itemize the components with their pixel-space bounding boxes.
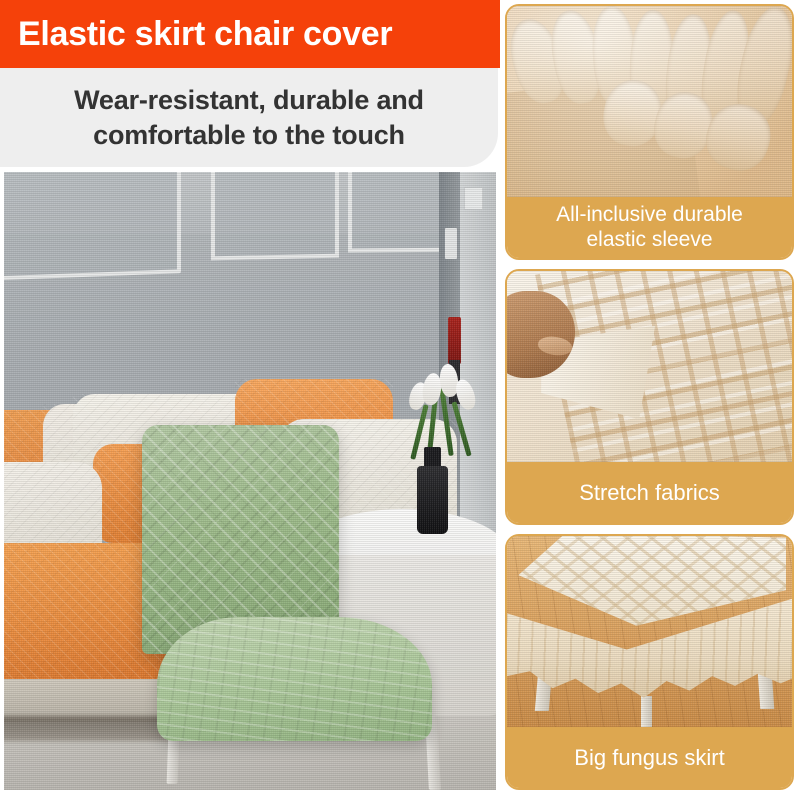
fret-pattern-texture <box>157 617 433 741</box>
wall-frame-left <box>4 172 181 281</box>
wall-frame-middle <box>211 172 339 260</box>
feature-panel-fungus-skirt: Big fungus skirt <box>505 534 794 790</box>
caption-line-1: Big fungus skirt <box>574 745 724 770</box>
feature-panel-elastic-sleeve: All-inclusive durable elastic sleeve <box>505 4 794 260</box>
feature-panel-stretch-fabrics: Stretch fabrics <box>505 269 794 525</box>
feature-image-stretch-fabrics <box>507 271 792 466</box>
subtitle-line-2: comfortable to the touch <box>93 118 405 153</box>
fire-extinguisher <box>448 317 461 363</box>
caption-line-2: elastic sleeve <box>586 228 712 252</box>
wall-label <box>445 228 457 259</box>
table-leg-center <box>641 696 652 727</box>
feature-caption: Stretch fabrics <box>507 462 792 523</box>
left-column: Elastic skirt chair cover Wear-resistant… <box>0 0 500 800</box>
title-banner: Elastic skirt chair cover <box>0 0 500 68</box>
feature-caption: All-inclusive durable elastic sleeve <box>507 197 792 258</box>
caption-line-1: Stretch fabrics <box>579 480 720 505</box>
feature-image-elastic-sleeve <box>507 6 792 201</box>
page-title: Elastic skirt chair cover <box>0 15 392 54</box>
product-ad-poster: Elastic skirt chair cover Wear-resistant… <box>0 0 800 800</box>
sofa-shadow <box>4 716 171 741</box>
feature-caption: Big fungus skirt <box>507 727 792 788</box>
subtitle-line-1: Wear-resistant, durable and <box>74 83 424 118</box>
flower-vase <box>417 466 448 534</box>
lighting-overlay <box>507 6 792 201</box>
subtitle-box: Wear-resistant, durable and comfortable … <box>0 68 498 167</box>
feature-panel-column: All-inclusive durable elastic sleeve Str… <box>505 4 796 796</box>
green-chair-seat <box>157 617 433 741</box>
main-room-photo <box>4 172 496 790</box>
wall-sign <box>464 187 484 209</box>
caption-line-1: All-inclusive durable <box>556 203 743 227</box>
feature-image-fungus-skirt <box>507 536 792 731</box>
